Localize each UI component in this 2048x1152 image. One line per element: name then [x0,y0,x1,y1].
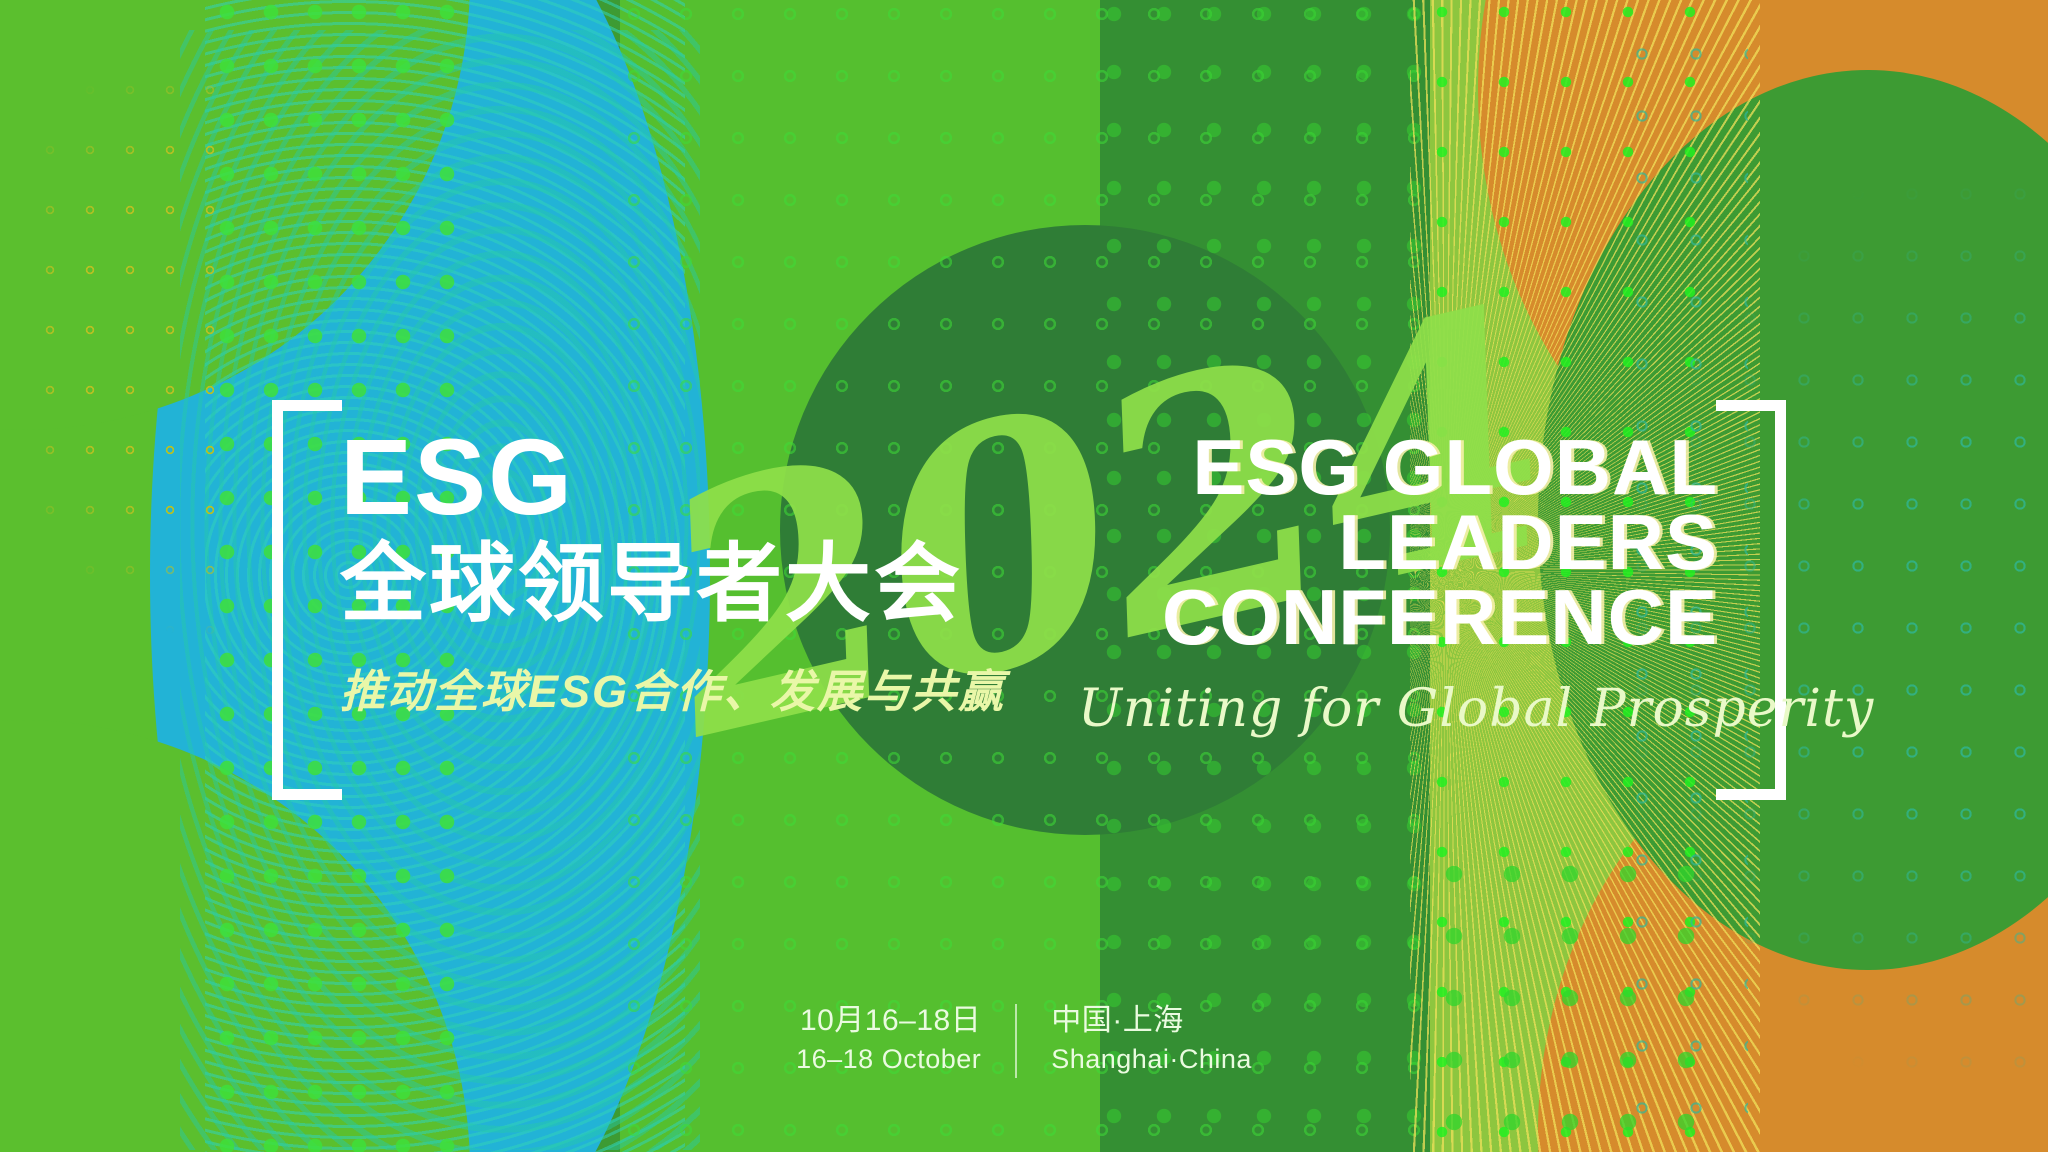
event-date-english: 16–18 October [796,1041,981,1078]
conference-title-english-line2: LEADERS [1078,505,1718,580]
english-title-block: ESG GLOBAL LEADERS CONFERENCE Uniting fo… [1078,430,1718,739]
event-location: 中国·上海 Shanghai·China [1017,1000,1252,1079]
conference-title-english-line3: CONFERENCE [1078,580,1718,655]
conference-title-english-line1: ESG GLOBAL [1078,430,1718,505]
footer-info: 10月16–18日 16–18 October 中国·上海 Shanghai·C… [0,1000,2048,1079]
tagline-english: Uniting for Global Prosperity [1078,679,1718,739]
tagline-chinese: 推动全球ESG合作、发展与共赢 [340,655,1060,720]
conference-title-chinese: 全球领导者大会 [340,539,1060,629]
event-location-chinese: 中国·上海 [1051,1000,1252,1041]
chinese-title-block: ESG 全球领导者大会 推动全球ESG合作、发展与共赢 [340,425,1060,720]
event-date: 10月16–18日 16–18 October [796,1000,1015,1079]
footer-divider [1015,1004,1017,1078]
brand-esg-label: ESG [340,425,1060,529]
event-date-chinese: 10月16–18日 [796,1000,981,1041]
conference-poster: 2024 ESG 全球领导者大会 推动全球ESG合作、发展与共赢 ESG GLO… [0,0,2048,1152]
event-location-english: Shanghai·China [1051,1041,1252,1078]
